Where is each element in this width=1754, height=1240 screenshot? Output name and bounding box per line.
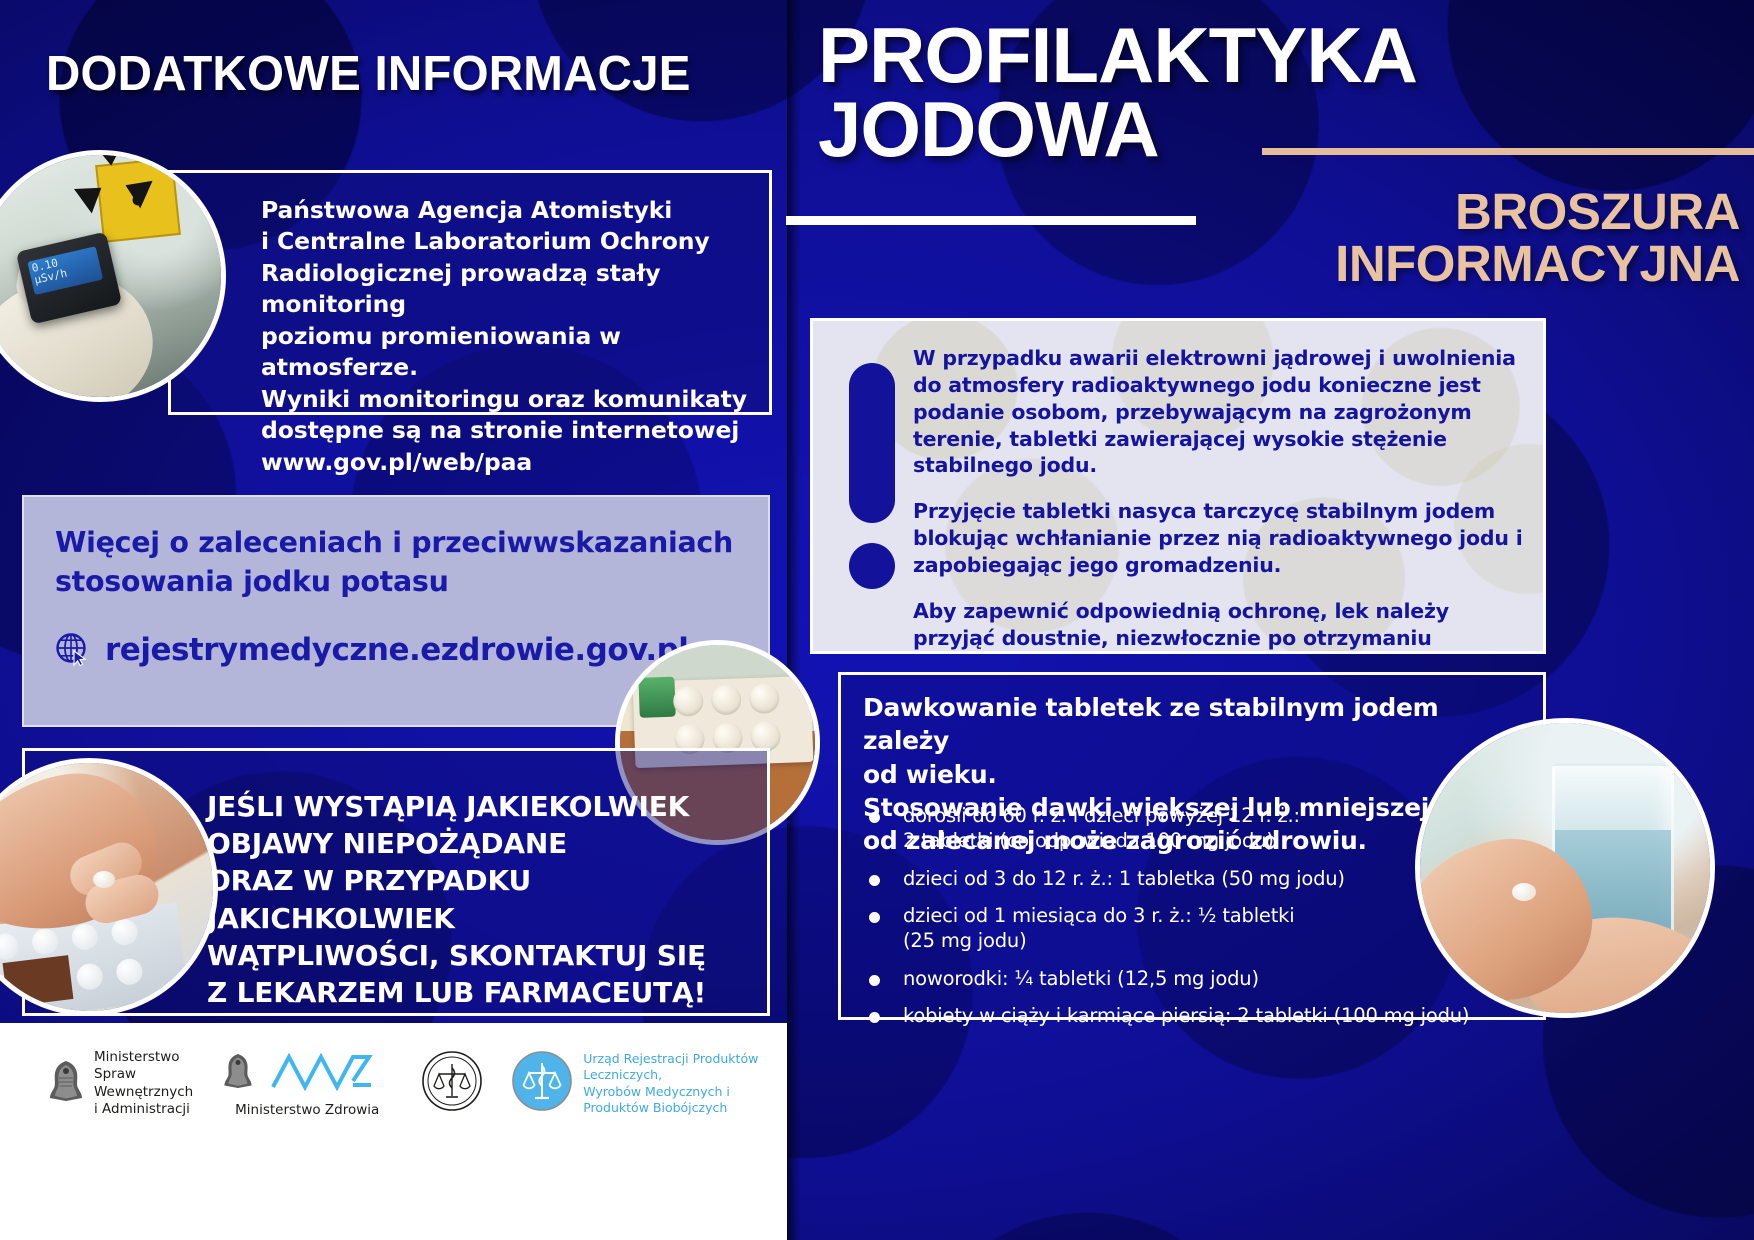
warning-text: JEŚLI WYSTĄPIĄ JAKIEKOLWIEKOBJAWY NIEPOŻ… (207, 788, 767, 1011)
monitoring-info-box: Państwowa Agencja Atomistykii Centralne … (168, 170, 772, 415)
brochure-subtitle-line-1: BROSZURA (1040, 186, 1740, 238)
left-page-title: DODATKOWE INFORMACJE (46, 46, 764, 102)
info-paragraph: W przypadku awarii elektrowni jądrowej i… (913, 345, 1523, 479)
registry-url-text[interactable]: rejestrymedyczne.ezdrowie.gov.pl (105, 632, 688, 668)
polish-eagle-emblem-icon (221, 1051, 263, 1096)
brochure-subtitle-line-2: INFORMACYJNA (1040, 238, 1740, 290)
exclamation-mark-icon (849, 363, 901, 589)
gif-seal-icon (421, 1050, 483, 1117)
logo-urpl-label: Urząd Rejestracji Produktów Leczniczych,… (583, 1051, 787, 1117)
tablet (1512, 883, 1536, 901)
logo-mswia: MinisterstwoSpraw Wewnętrznychi Administ… (46, 1049, 193, 1118)
brochure-title-line-2: JODOWA (818, 92, 1508, 166)
polish-eagle-emblem-icon (46, 1058, 94, 1109)
dosimeter-screen-reading: 0.10 µSv/h (27, 246, 103, 295)
logo-mz: Ministerstwo Zdrowia (221, 1049, 393, 1118)
radiation-meter-photo: 0.10 µSv/h (0, 150, 226, 402)
table-surface (3, 955, 74, 1007)
info-paragraph: Przyjęcie tabletki nasyca tarczycę stabi… (913, 498, 1523, 579)
logo-mz-marks (221, 1049, 393, 1098)
urpl-scales-seal-icon (511, 1050, 573, 1117)
exclamation-dot (849, 543, 895, 589)
page-fold-seam (787, 0, 801, 1240)
hand-with-tablet-photo (0, 758, 218, 1016)
radiation-trefoil-icon (95, 157, 181, 243)
footer-logo-strip: MinisterstwoSpraw Wewnętrznychi Administ… (0, 1023, 787, 1240)
info-panel-body: W przypadku awarii elektrowni jądrowej i… (913, 345, 1523, 654)
more-info-heading: Więcej o zaleceniach i przeciwwskazaniac… (55, 523, 745, 602)
tablet (93, 871, 115, 888)
logo-list: MinisterstwoSpraw Wewnętrznychi Administ… (46, 1049, 787, 1118)
brochure-subtitle: BROSZURA INFORMACYJNA (1040, 186, 1740, 290)
brochure-main-title: PROFILAKTYKA JODOWA (818, 18, 1508, 166)
exclamation-bar (849, 363, 895, 523)
logo-urpl: Urząd Rejestracji Produktów Leczniczych,… (511, 1050, 787, 1117)
mz-zigzag-logo-icon (269, 1049, 393, 1098)
monitoring-info-text: Państwowa Agencja Atomistykii Centralne … (261, 195, 771, 478)
brochure-page: DODATKOWE INFORMACJE Państwowa Agencja A… (0, 0, 1754, 1240)
logo-mswia-label: MinisterstwoSpraw Wewnętrznychi Administ… (94, 1049, 193, 1118)
registry-url-row[interactable]: rejestrymedyczne.ezdrowie.gov.pl (55, 632, 688, 668)
logo-gif (421, 1050, 483, 1117)
info-paragraph: Aby zapewnić odpowiednią ochronę, lek na… (913, 598, 1523, 654)
logo-mz-label: Ministerstwo Zdrowia (235, 1102, 379, 1118)
tan-divider-rule (1262, 148, 1754, 155)
globe-cursor-icon (55, 632, 91, 668)
info-panel: W przypadku awarii elektrowni jądrowej i… (810, 318, 1546, 654)
green-box-edge (638, 677, 675, 718)
glass-of-water-photo (1415, 718, 1715, 1018)
